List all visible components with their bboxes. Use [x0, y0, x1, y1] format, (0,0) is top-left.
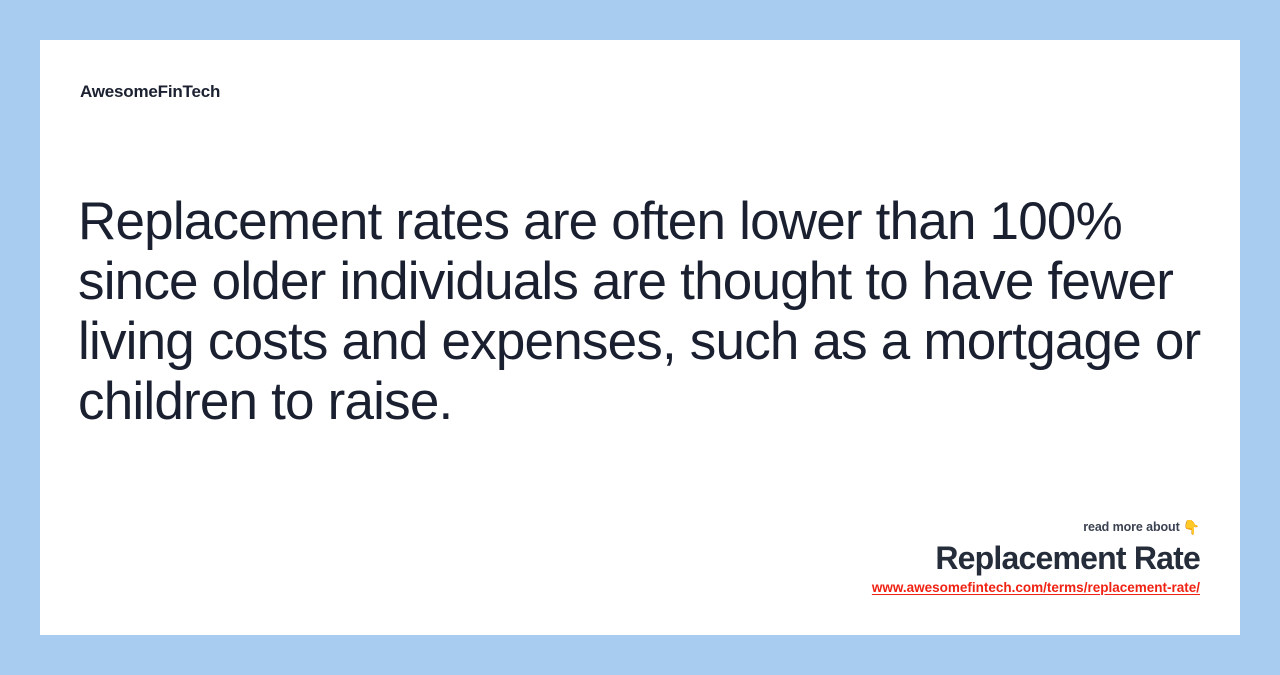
- content-card: AwesomeFinTech Replacement rates are oft…: [40, 40, 1240, 635]
- page-background: AwesomeFinTech Replacement rates are oft…: [0, 0, 1280, 675]
- page-title: Replacement rates are often lower than 1…: [78, 192, 1208, 432]
- read-more-label: read more about👇: [872, 520, 1200, 534]
- brand-logo-text: AwesomeFinTech: [80, 83, 220, 100]
- term-title: Replacement Rate: [872, 541, 1200, 576]
- term-url-link[interactable]: www.awesomefintech.com/terms/replacement…: [872, 581, 1200, 596]
- pointing-down-hand-icon: 👇: [1183, 519, 1200, 535]
- read-more-text: read more about: [1083, 520, 1179, 534]
- footer-attribution: read more about👇 Replacement Rate www.aw…: [872, 520, 1200, 597]
